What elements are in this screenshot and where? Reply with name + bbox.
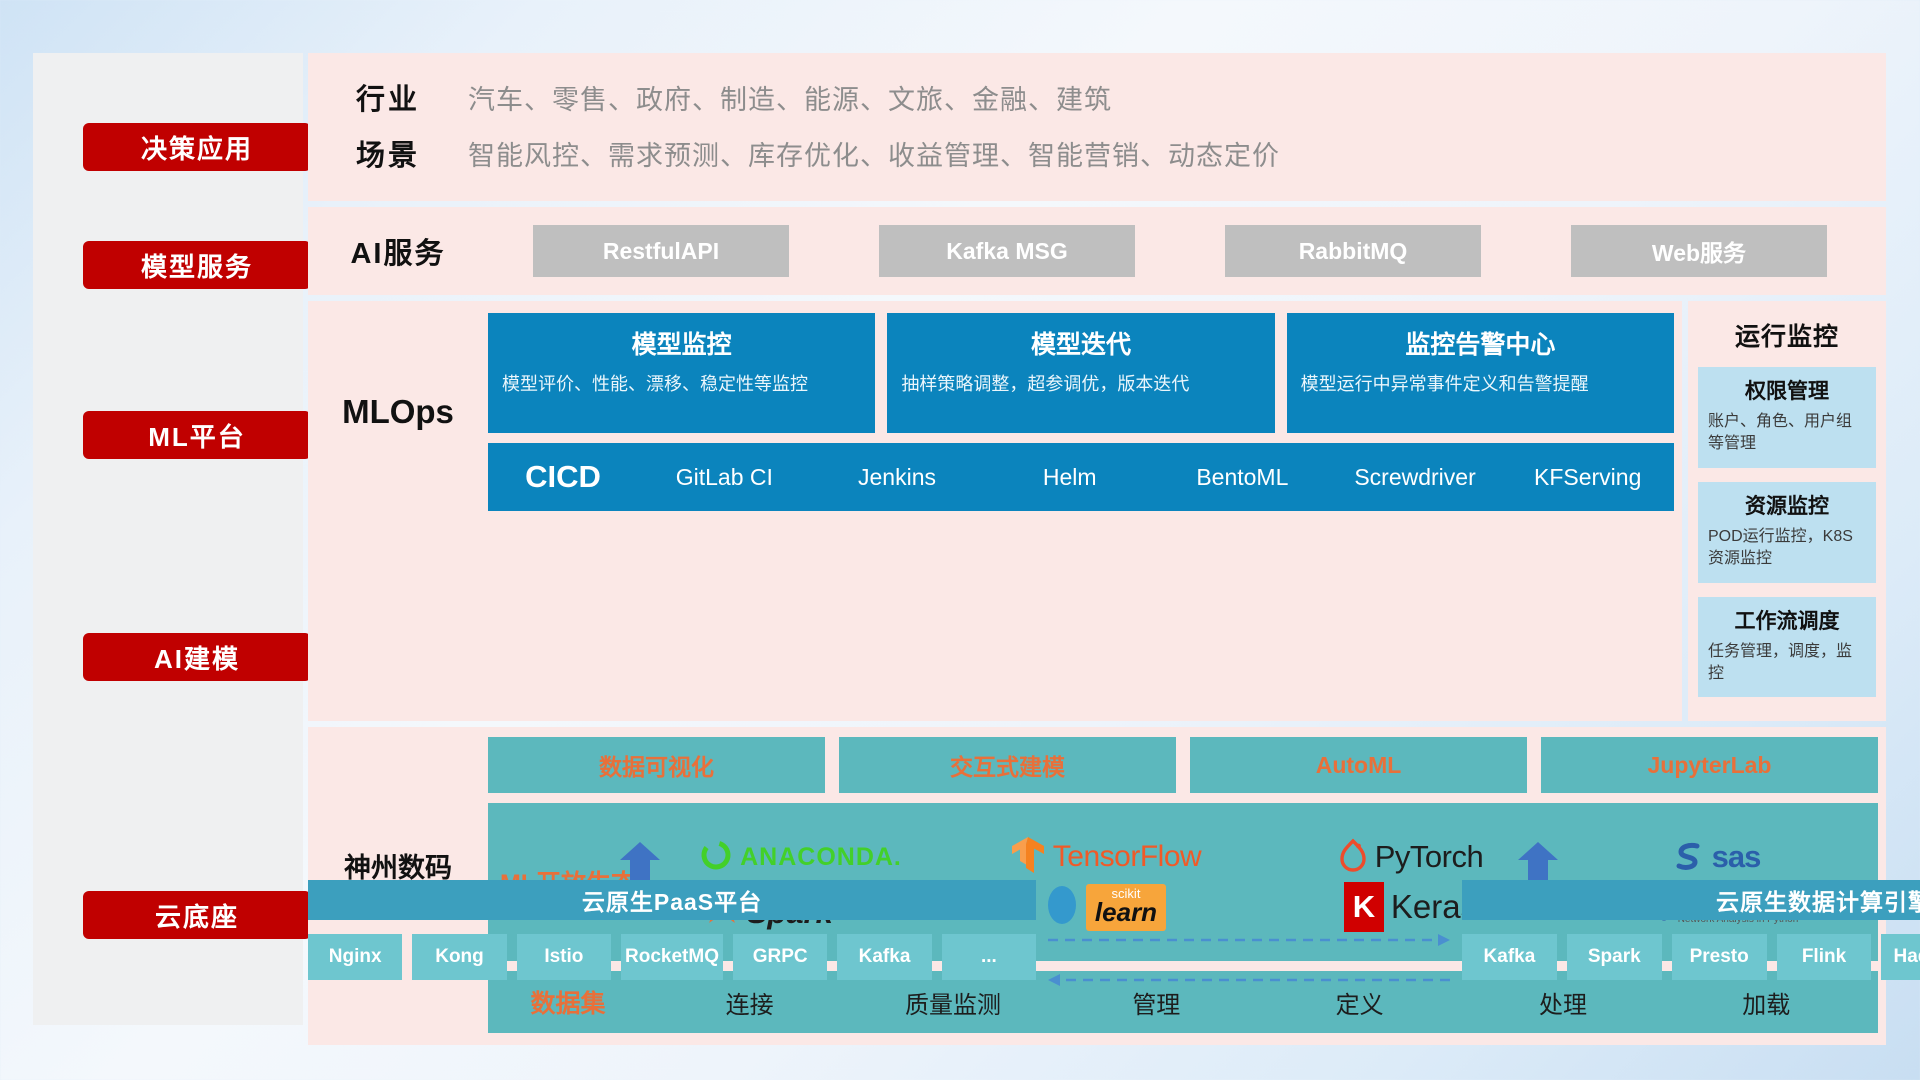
scenario-row: 场景 智能风控、需求预测、库存优化、收益管理、智能营销、动态定价 <box>308 125 1886 181</box>
scenario-values: 智能风控、需求预测、库存优化、收益管理、智能营销、动态定价 <box>468 134 1280 173</box>
lab-tool-jupyterlab[interactable]: JupyterLab <box>1541 737 1878 793</box>
chip-kafka-compute[interactable]: Kafka <box>1462 934 1557 980</box>
stage-chip-decision[interactable]: 决策应用 <box>83 123 311 171</box>
chip-presto[interactable]: Presto <box>1672 934 1767 980</box>
lab-tool-data-visualization[interactable]: 数据可视化 <box>488 737 825 793</box>
cloud-base-section: 云原生PaaS平台 Nginx Kong Istio RocketMQ GRPC… <box>308 880 1886 1030</box>
monitor-card-workflow[interactable]: 工作流调度 任务管理，调度，监控 <box>1698 597 1876 698</box>
mlops-band: MLOps 模型监控 模型评价、性能、漂移、稳定性等监控 模型迭代 抽样策略调整… <box>308 301 1682 721</box>
chip-nginx[interactable]: Nginx <box>308 934 402 980</box>
service-item-rabbitmq[interactable]: RabbitMQ <box>1225 225 1481 277</box>
industry-values: 汽车、零售、政府、制造、能源、文旅、金融、建筑 <box>468 78 1112 117</box>
sas-wordmark: sas <box>1712 839 1761 875</box>
chip-rocketmq[interactable]: RocketMQ <box>621 934 723 980</box>
up-arrow-paas-icon <box>618 842 662 882</box>
industry-row: 行业 汽车、零售、政府、制造、能源、文旅、金融、建筑 <box>308 69 1886 125</box>
monitor-card-resource[interactable]: 资源监控 POD运行监控，K8S资源监控 <box>1698 482 1876 583</box>
card-title: 模型迭代 <box>901 325 1260 361</box>
mlops-label: MLOps <box>308 313 488 511</box>
card-title: 资源监控 <box>1708 490 1866 520</box>
ai-service-band: AI服务 RestfulAPI Kafka MSG RabbitMQ Web服务 <box>308 207 1886 295</box>
application-layer-band: 行业 汽车、零售、政府、制造、能源、文旅、金融、建筑 场景 智能风控、需求预测、… <box>308 53 1886 201</box>
card-desc: 任务管理，调度，监控 <box>1708 641 1866 686</box>
pytorch-wordmark: PyTorch <box>1375 839 1483 875</box>
cicd-item-kfserving[interactable]: KFServing <box>1501 465 1674 489</box>
mlops-card-model-monitoring[interactable]: 模型监控 模型评价、性能、漂移、稳定性等监控 <box>488 313 875 433</box>
pytorch-logo: PyTorch <box>1338 837 1483 878</box>
card-title: 监控告警中心 <box>1301 325 1660 361</box>
card-title: 模型监控 <box>502 325 861 361</box>
card-desc: 账户、角色、用户组等管理 <box>1708 411 1866 456</box>
cloud-paas-block: 云原生PaaS平台 Nginx Kong Istio RocketMQ GRPC… <box>308 880 1036 980</box>
card-title: 工作流调度 <box>1708 605 1866 635</box>
mlops-card-model-iteration[interactable]: 模型迭代 抽样策略调整，超参调优，版本迭代 <box>887 313 1274 433</box>
up-arrow-compute-icon <box>1516 842 1560 882</box>
mlops-and-monitor-row: MLOps 模型监控 模型评价、性能、漂移、稳定性等监控 模型迭代 抽样策略调整… <box>308 301 1886 721</box>
scenario-label: 场景 <box>308 132 468 174</box>
card-desc: 抽样策略调整，超参调优，版本迭代 <box>901 371 1260 397</box>
lab-tool-automl[interactable]: AutoML <box>1190 737 1527 793</box>
stage-chip-model-service[interactable]: 模型服务 <box>83 241 311 289</box>
industry-label: 行业 <box>308 76 468 118</box>
chip-more-paas[interactable]: ... <box>942 934 1036 980</box>
card-desc: 模型评价、性能、漂移、稳定性等监控 <box>502 371 861 397</box>
cloud-compute-block: 云原生数据计算引擎 Kafka Spark Presto Flink Hadoo… <box>1462 880 1920 980</box>
tensorflow-mark-icon <box>1010 835 1046 880</box>
tensorflow-wordmark: TensorFlow <box>1053 840 1201 874</box>
cicd-item-gitlab-ci[interactable]: GitLab CI <box>638 465 811 489</box>
cicd-bar: CICD GitLab CI Jenkins Helm BentoML Scre… <box>488 443 1674 511</box>
cicd-item-jenkins[interactable]: Jenkins <box>811 465 984 489</box>
stage-chip-ai-modeling[interactable]: AI建模 <box>83 633 311 681</box>
anaconda-logo: ANACONDA. <box>699 838 902 877</box>
sas-mark-icon <box>1671 838 1705 877</box>
stage-chip-cloud-base[interactable]: 云底座 <box>83 891 311 939</box>
anaconda-mark-icon <box>699 838 733 877</box>
ai-service-label: AI服务 <box>308 230 488 272</box>
mlops-card-alert-center[interactable]: 监控告警中心 模型运行中异常事件定义和告警提醒 <box>1287 313 1674 433</box>
ai-service-list: RestfulAPI Kafka MSG RabbitMQ Web服务 <box>488 225 1886 277</box>
cicd-item-screwdriver[interactable]: Screwdriver <box>1329 465 1502 489</box>
cloud-compute-chip-row: Kafka Spark Presto Flink Hadoop Storm ..… <box>1462 934 1920 980</box>
sas-logo: sas <box>1671 838 1761 877</box>
runtime-monitor-title: 运行监控 <box>1698 317 1876 353</box>
chip-grpc[interactable]: GRPC <box>733 934 827 980</box>
monitor-card-permission[interactable]: 权限管理 账户、角色、用户组等管理 <box>1698 367 1876 468</box>
lab-tool-list: 数据可视化 交互式建模 AutoML JupyterLab <box>488 737 1878 793</box>
pytorch-flame-icon <box>1338 837 1368 878</box>
anaconda-wordmark: ANACONDA. <box>740 843 902 872</box>
tensorflow-logo: TensorFlow <box>1010 835 1201 880</box>
cloud-paas-title: 云原生PaaS平台 <box>308 880 1036 920</box>
cloud-compute-title: 云原生数据计算引擎 <box>1462 880 1920 920</box>
chip-kong[interactable]: Kong <box>412 934 506 980</box>
chip-hadoop[interactable]: Hadoop <box>1881 934 1920 980</box>
cicd-label: CICD <box>488 459 638 495</box>
chip-istio[interactable]: Istio <box>517 934 611 980</box>
stage-rail: 决策应用 模型服务 ML平台 AI建模 云底座 <box>33 53 303 1025</box>
mlops-card-list: 模型监控 模型评价、性能、漂移、稳定性等监控 模型迭代 抽样策略调整，超参调优，… <box>488 313 1674 433</box>
cloud-paas-chip-row: Nginx Kong Istio RocketMQ GRPC Kafka ... <box>308 934 1036 980</box>
chip-kafka-paas[interactable]: Kafka <box>837 934 931 980</box>
cicd-item-helm[interactable]: Helm <box>983 465 1156 489</box>
card-desc: 模型运行中异常事件定义和告警提醒 <box>1301 371 1660 397</box>
bidirectional-dashed-connector-icon <box>1042 888 1456 1008</box>
chip-spark[interactable]: Spark <box>1567 934 1662 980</box>
cicd-item-bentoml[interactable]: BentoML <box>1156 465 1329 489</box>
lab-tool-interactive-modeling[interactable]: 交互式建模 <box>839 737 1176 793</box>
service-item-web[interactable]: Web服务 <box>1571 225 1827 277</box>
card-title: 权限管理 <box>1708 375 1866 405</box>
card-desc: POD运行监控，K8S资源监控 <box>1708 526 1866 571</box>
service-item-restfulapi[interactable]: RestfulAPI <box>533 225 789 277</box>
runtime-monitor-column: 运行监控 权限管理 账户、角色、用户组等管理 资源监控 POD运行监控，K8S资… <box>1688 301 1886 721</box>
stage-chip-ml-platform[interactable]: ML平台 <box>83 411 311 459</box>
service-item-kafka-msg[interactable]: Kafka MSG <box>879 225 1135 277</box>
chip-flink[interactable]: Flink <box>1777 934 1872 980</box>
